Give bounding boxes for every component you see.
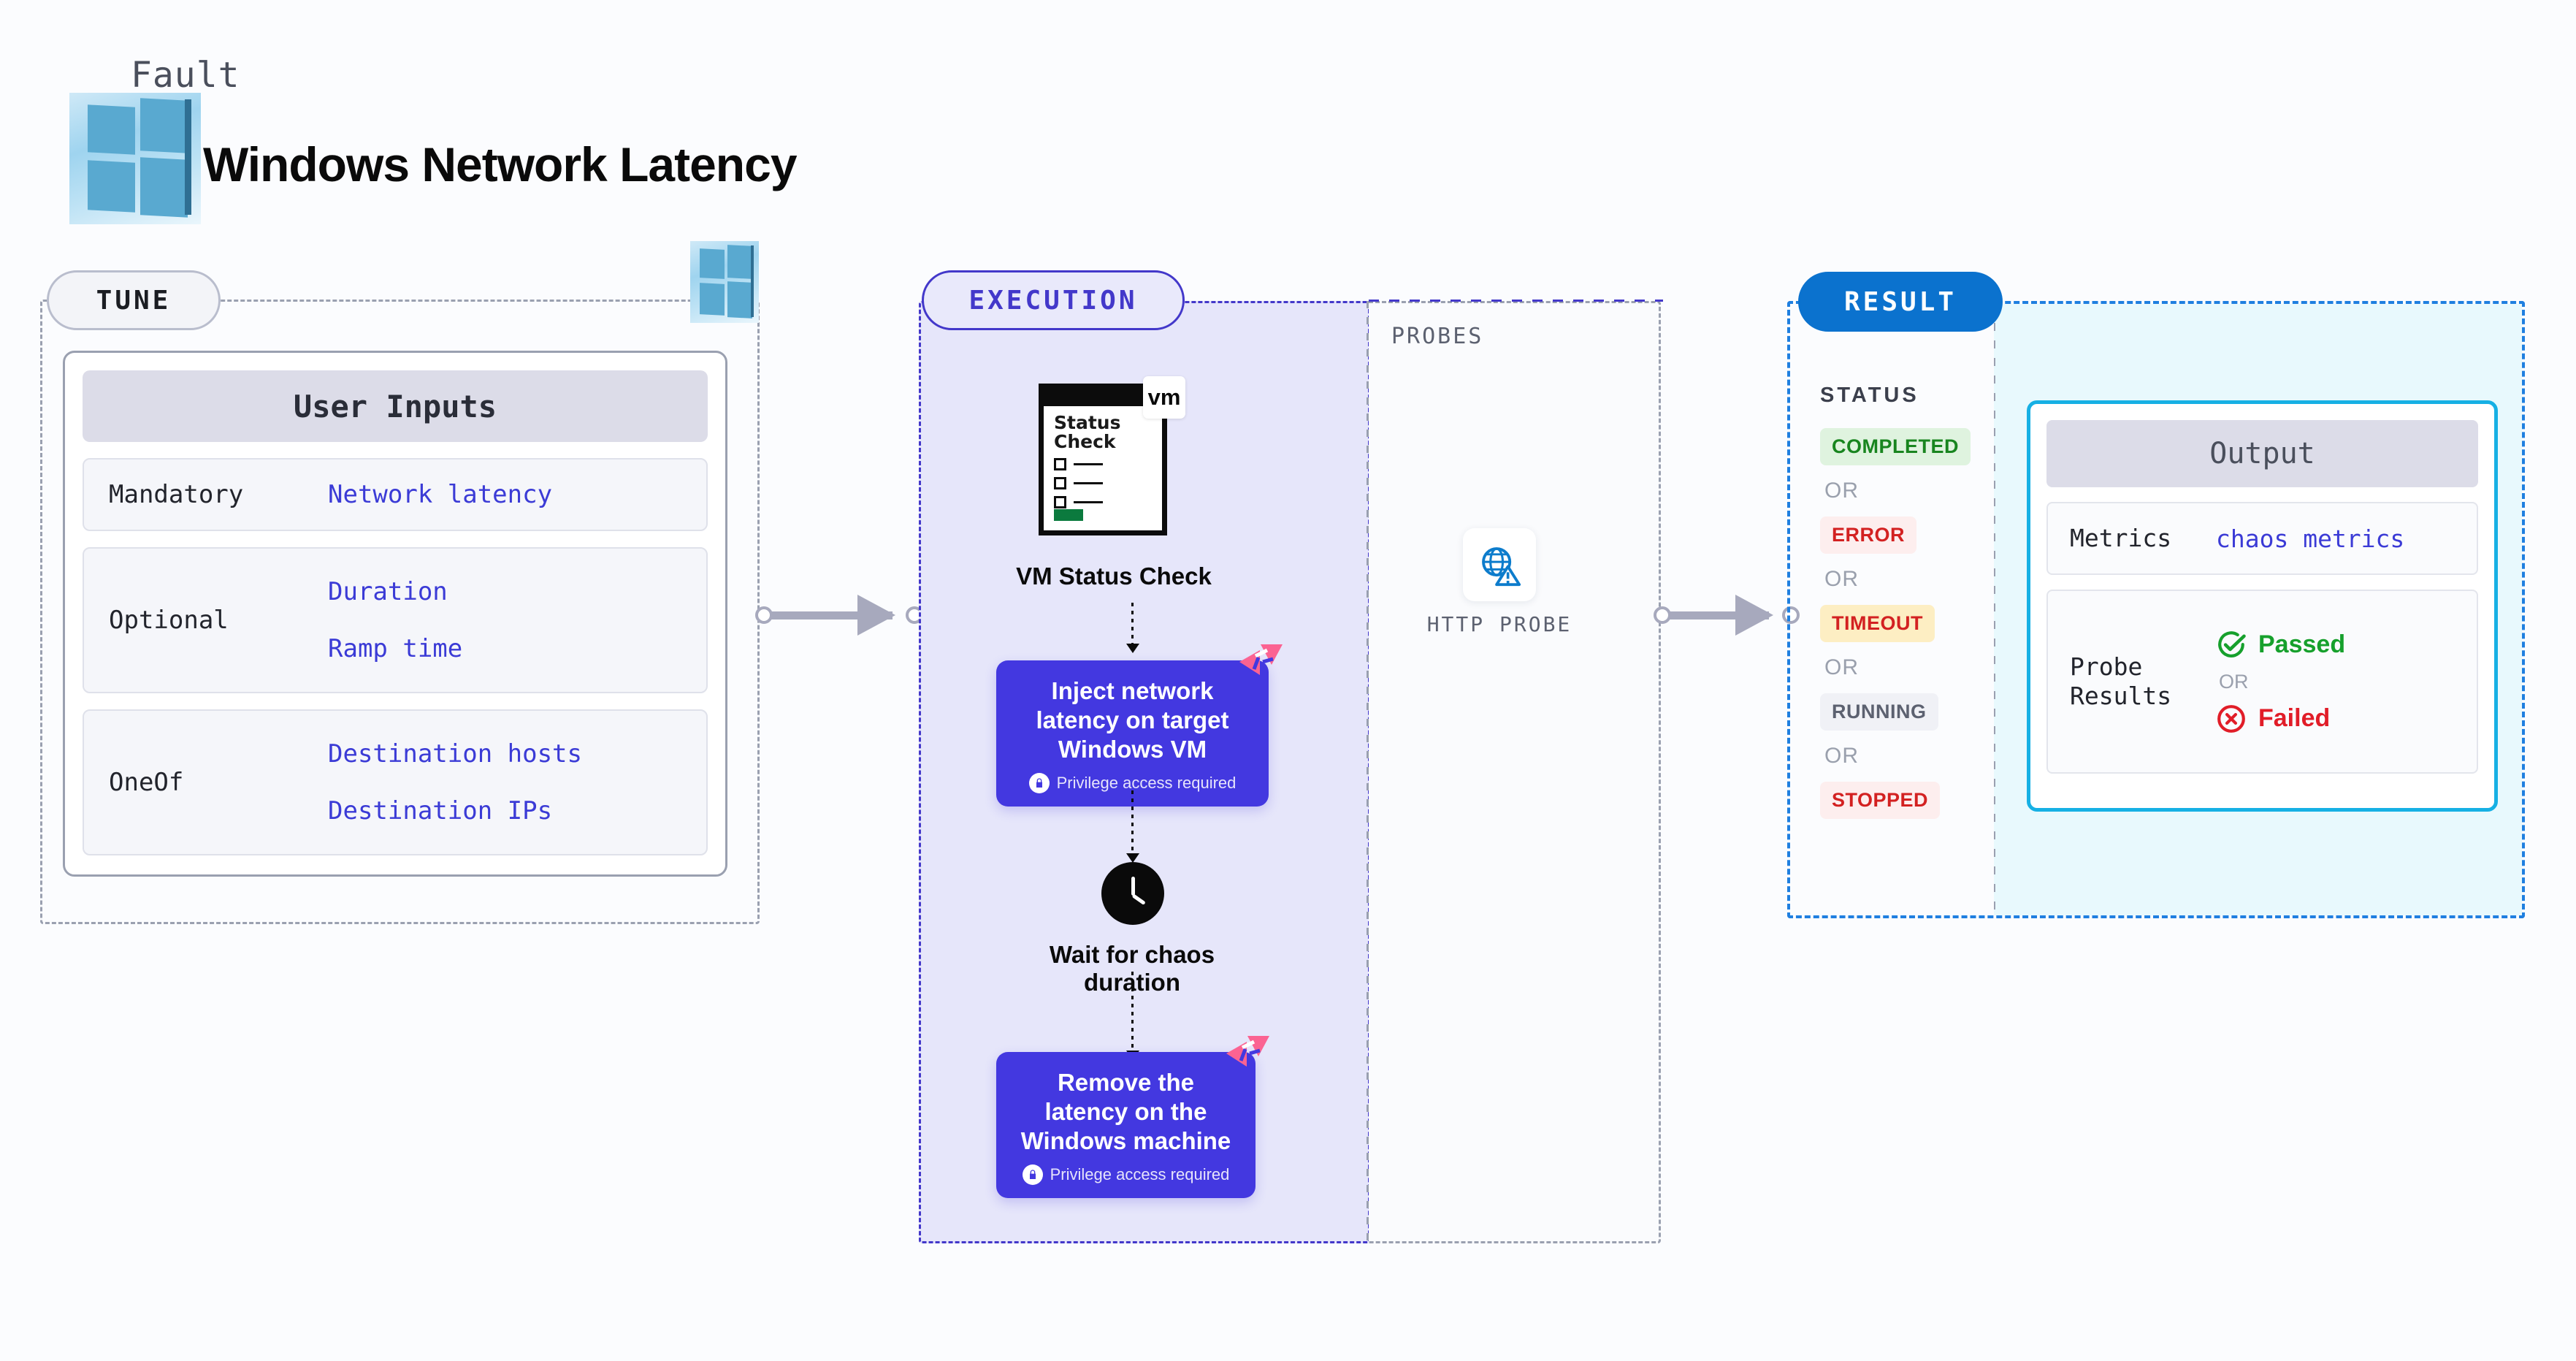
tune-row-key: Mandatory [109, 480, 328, 509]
tune-param-duration[interactable]: Duration [328, 577, 462, 606]
tune-row-oneof: OneOf Destination hosts Destination IPs [83, 709, 708, 855]
status-column-title: STATUS [1820, 384, 1919, 408]
check-circle-icon [2216, 630, 2247, 660]
result-inner-divider [1994, 305, 1995, 914]
http-probe-globe-warning-icon [1477, 542, 1522, 587]
tune-row-key: Optional [109, 606, 328, 635]
or-separator: OR [2219, 671, 2345, 693]
or-separator: OR [1824, 744, 2003, 769]
litmus-chaos-icon [1225, 1034, 1272, 1077]
page-header: Fault Windows Network Latency [69, 47, 946, 186]
windows-logo-icon [69, 93, 201, 224]
x-circle-icon [2216, 704, 2247, 734]
execution-step-title: Remove the latency on the Windows machin… [1015, 1068, 1237, 1156]
probes-to-result-arrow [1654, 593, 1800, 637]
probes-top-divider [1369, 300, 1663, 302]
diagram-canvas: Fault Windows Network Latency TUNE User … [0, 0, 2576, 1361]
execution-step-inject-latency[interactable]: Inject network latency on target Windows… [996, 660, 1269, 807]
vm-status-check-icon: Status Check vm [1039, 384, 1185, 535]
output-row-probe-results: Probe Results Passed OR Failed [2046, 590, 2478, 774]
output-metrics-key: Metrics [2070, 524, 2216, 553]
status-badge-running: RUNNING [1820, 693, 1938, 731]
probe-failed-label: Failed [2258, 704, 2330, 733]
or-separator: OR [1824, 567, 2003, 592]
tune-param-network-latency[interactable]: Network latency [328, 480, 552, 509]
http-probe-label: HTTP PROBE [1388, 612, 1611, 636]
status-badge-stopped: STOPPED [1820, 782, 1940, 819]
output-metrics-value[interactable]: chaos metrics [2216, 525, 2404, 553]
execution-section-pill: EXECUTION [922, 270, 1185, 330]
lock-icon [1023, 1164, 1043, 1185]
vm-doc-title-line1: Status [1054, 413, 1156, 432]
vmware-badge-icon: vm [1143, 376, 1185, 419]
user-inputs-title: User Inputs [83, 370, 708, 442]
execution-step-title: Inject network latency on target Windows… [1015, 676, 1250, 764]
output-probe-results-key: Probe Results [2070, 652, 2216, 711]
status-list: COMPLETED OR ERROR OR TIMEOUT OR RUNNING… [1820, 428, 2003, 819]
probes-section-boundary [1369, 301, 1661, 1243]
lock-icon [1029, 773, 1050, 793]
vm-doc-title-line2: Check [1054, 432, 1156, 451]
probe-result-passed: Passed [2216, 630, 2345, 660]
privilege-note: Privilege access required [1057, 774, 1237, 793]
execution-step-remove-latency[interactable]: Remove the latency on the Windows machin… [996, 1052, 1255, 1198]
flow-arrow [1131, 603, 1134, 645]
tune-row-optional: Optional Duration Ramp time [83, 547, 708, 693]
status-badge-completed: COMPLETED [1820, 428, 1971, 465]
privilege-note: Privilege access required [1050, 1165, 1230, 1184]
fault-label: Fault [131, 55, 240, 96]
status-badge-error: ERROR [1820, 516, 1916, 554]
status-badge-timeout: TIMEOUT [1820, 605, 1935, 642]
tune-section-pill: TUNE [47, 270, 221, 330]
tune-param-destination-hosts[interactable]: Destination hosts [328, 739, 582, 769]
tune-param-ramp-time[interactable]: Ramp time [328, 634, 462, 663]
probe-result-failed: Failed [2216, 704, 2345, 734]
windows-logo-icon [690, 241, 759, 323]
flow-arrow [1131, 972, 1134, 1052]
probes-section-label: PROBES [1391, 324, 1483, 349]
page-title: Windows Network Latency [203, 137, 797, 192]
or-separator: OR [1824, 655, 2003, 680]
output-card: Output Metrics chaos metrics Probe Resul… [2027, 400, 2498, 812]
tune-row-key: OneOf [109, 768, 328, 797]
probe-passed-label: Passed [2258, 630, 2345, 659]
result-section-pill: RESULT [1798, 272, 2003, 332]
litmus-chaos-icon [1238, 643, 1285, 685]
or-separator: OR [1824, 479, 2003, 503]
clock-icon [1101, 862, 1164, 925]
http-probe-card[interactable] [1463, 528, 1536, 601]
tune-row-mandatory: Mandatory Network latency [83, 458, 708, 531]
tune-to-execution-arrow [755, 593, 923, 637]
vm-status-check-caption: VM Status Check [971, 563, 1256, 590]
output-row-metrics: Metrics chaos metrics [2046, 502, 2478, 575]
user-inputs-card: User Inputs Mandatory Network latency Op… [63, 351, 727, 877]
flow-arrow [1131, 790, 1134, 855]
output-title: Output [2046, 420, 2478, 487]
tune-param-destination-ips[interactable]: Destination IPs [328, 796, 582, 826]
